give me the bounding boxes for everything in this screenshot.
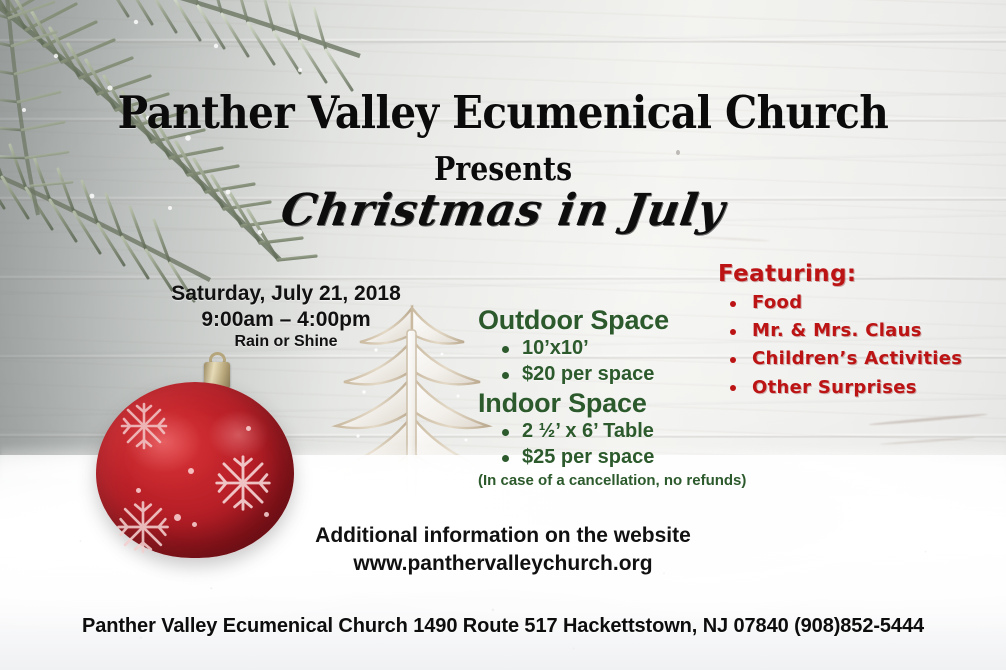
event-date: Saturday, July 21, 2018 [152,282,420,307]
footer-contact: Panther Valley Ecumenical Church 1490 Ro… [0,614,1006,638]
list-item: 2 ½’ x 6’ Table [500,418,798,444]
featuring-block: Featuring: Food Mr. & Mrs. Claus Childre… [718,262,990,402]
ornament-dot [174,514,181,521]
refund-note: (In case of a cancellation, no refunds) [478,472,798,491]
snowflake-icon [118,400,170,452]
presents-label: Presents [70,152,935,185]
indoor-space-list: 2 ½’ x 6’ Table $25 per space [478,418,798,470]
list-item: Children’s Activities [726,345,990,373]
ornament-dot [246,426,251,431]
event-title: Christmas in July [0,188,1006,234]
page-title: Panther Valley Ecumenical Church [50,90,955,135]
featuring-list: Food Mr. & Mrs. Claus Children’s Activit… [718,289,990,401]
featuring-heading: Featuring: [718,262,990,287]
list-item: Other Surprises [726,374,990,402]
website-url[interactable]: www.panthervalleychurch.org [0,550,1006,578]
event-time: 9:00am – 4:00pm [152,307,420,333]
list-item: Food [726,289,990,317]
ornament-dot [136,488,141,493]
snowflake-icon [212,452,274,514]
list-item: Mr. & Mrs. Claus [726,317,990,345]
event-weather-note: Rain or Shine [152,332,420,353]
list-item: $25 per space [500,444,798,470]
website-block: Additional information on the website ww… [0,522,1006,578]
flyer-canvas: Panther Valley Ecumenical Church Present… [0,0,1006,670]
website-prompt: Additional information on the website [0,522,1006,550]
ornament-dot [188,468,194,474]
event-datetime-block: Saturday, July 21, 2018 9:00am – 4:00pm … [152,282,420,353]
ornament-dot [264,512,269,517]
